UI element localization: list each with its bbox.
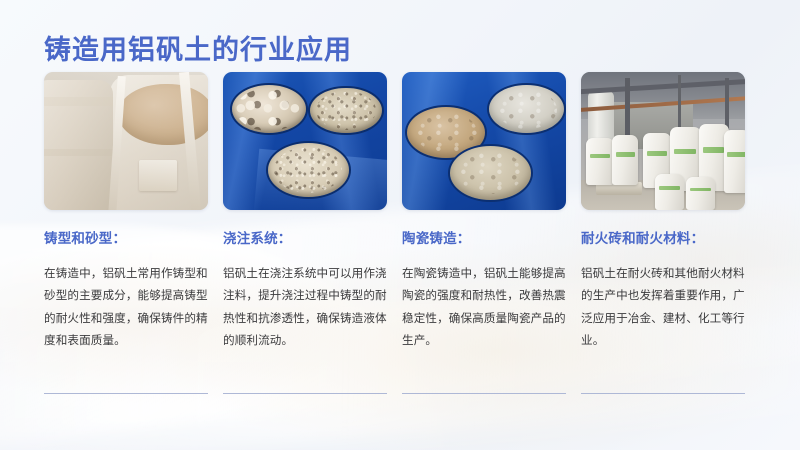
- bauxite-powder-photo: [402, 72, 566, 210]
- card-item: 铸型和砂型： 在铸造中，铝矾土常用作铸型和砂型的主要成分，能够提高铸型的耐火性和…: [44, 72, 208, 352]
- card-divider-rule: [581, 393, 745, 394]
- card-item: 耐火砖和耐火材料： 铝矾土在耐火砖和其他耐火材料的生产中也发挥着重要作用，广泛应…: [581, 72, 745, 352]
- bulk-bags-photo: [44, 72, 208, 210]
- card-heading: 浇注系统：: [223, 227, 387, 247]
- card-heading: 陶瓷铸造：: [402, 227, 566, 247]
- card-divider-rule: [223, 393, 387, 394]
- page-title: 铸造用铝矾土的行业应用: [44, 28, 352, 67]
- card-body: 在铸造中，铝矾土常用作铸型和砂型的主要成分，能够提高铸型的耐火性和强度，确保铸件…: [44, 263, 208, 352]
- card-body: 在陶瓷铸造中，铝矾土能够提高陶瓷的强度和耐热性，改善热震稳定性，确保高质量陶瓷产…: [402, 263, 566, 352]
- cards-row: 铸型和砂型： 在铸造中，铝矾土常用作铸型和砂型的主要成分，能够提高铸型的耐火性和…: [44, 72, 756, 352]
- card-body: 铝矾土在耐火砖和其他耐火材料的生产中也发挥着重要作用，广泛应用于冶金、建材、化工…: [581, 263, 745, 352]
- card-heading: 铸型和砂型：: [44, 227, 208, 247]
- card-item: 陶瓷铸造： 在陶瓷铸造中，铝矾土能够提高陶瓷的强度和耐热性，改善热震稳定性，确保…: [402, 72, 566, 352]
- card-divider-rule: [44, 393, 208, 394]
- card-divider-rule: [402, 393, 566, 394]
- card-heading: 耐火砖和耐火材料：: [581, 227, 745, 247]
- card-item: 浇注系统： 铝矾土在浇注系统中可以用作浇注料，提升浇注过程中铸型的耐热性和抗渗透…: [223, 72, 387, 352]
- slide-canvas: 铸造用铝矾土的行业应用 铸型和砂型： 在铸造中，铝矾土常用作铸型和砂型的主要成分…: [0, 0, 800, 450]
- bauxite-grades-photo: [223, 72, 387, 210]
- card-body: 铝矾土在浇注系统中可以用作浇注料，提升浇注过程中铸型的耐热性和抗渗透性，确保铸造…: [223, 263, 387, 352]
- warehouse-storage-photo: [581, 72, 745, 210]
